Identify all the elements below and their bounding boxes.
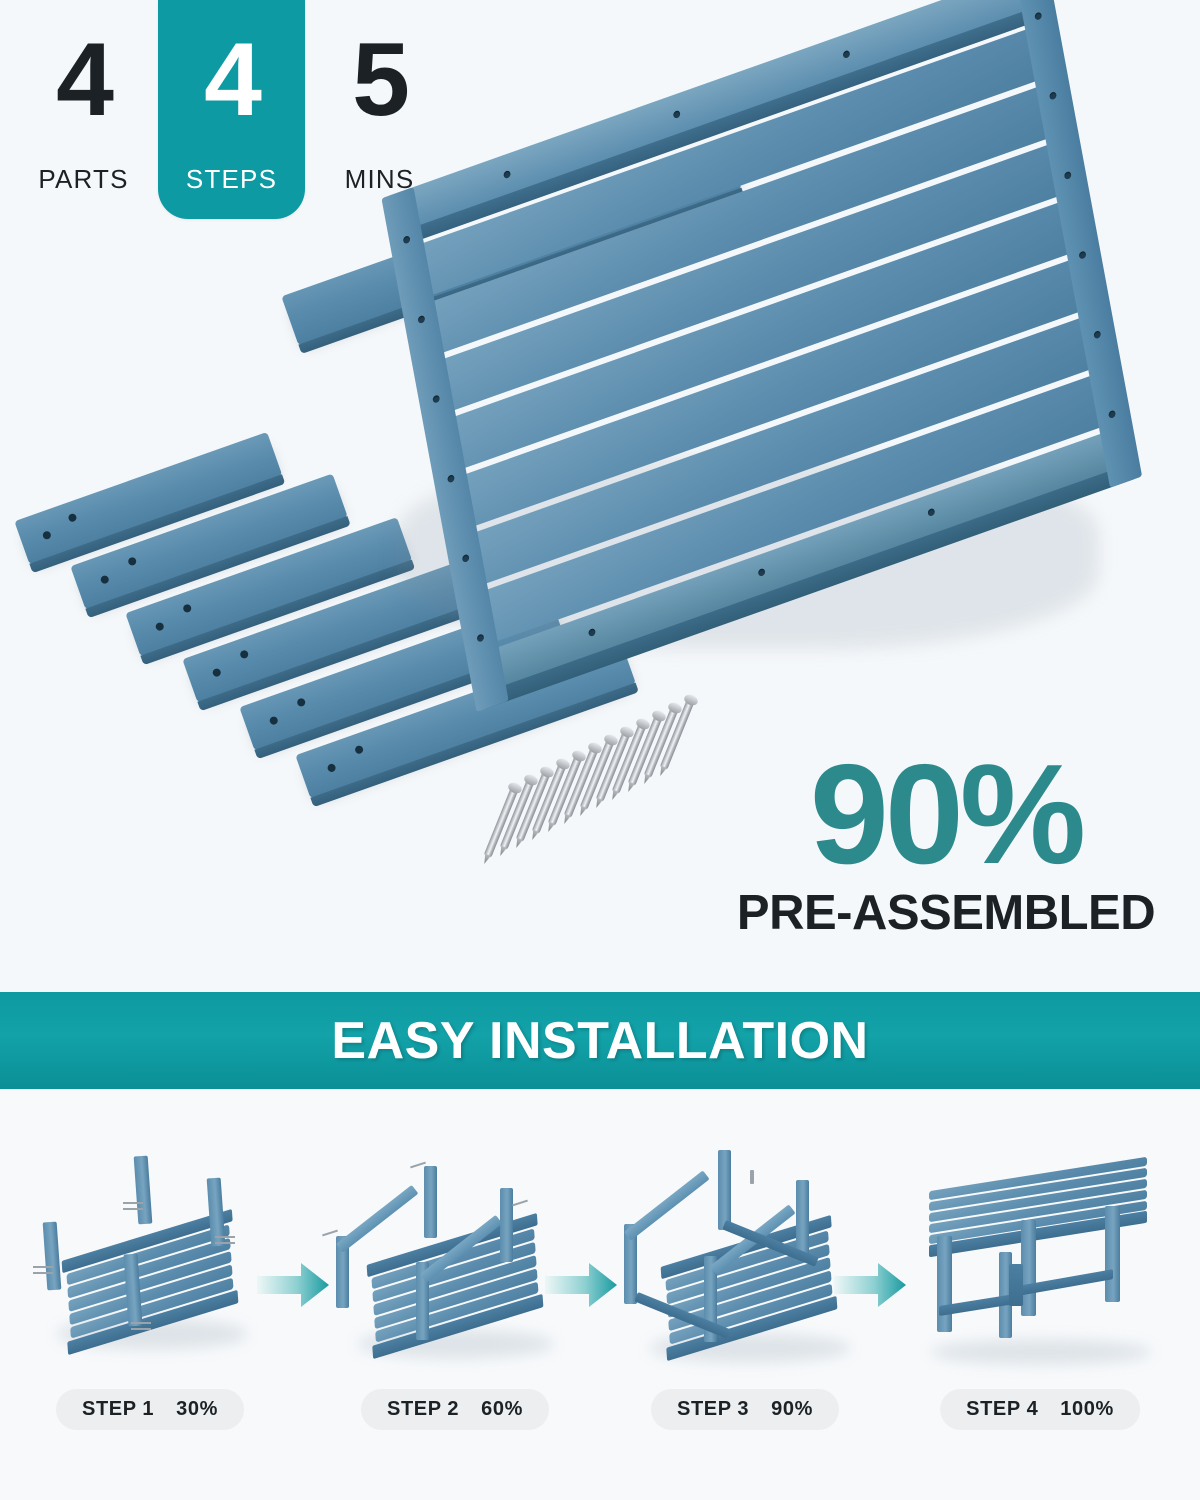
installation-steps-section: STEP 1 30% (0, 1089, 1200, 1500)
screws-group (505, 700, 705, 865)
stat-mins: 5 MINS (306, 0, 453, 230)
step-4-badge: STEP 4 100% (940, 1389, 1140, 1430)
stat-steps-number: 4 (204, 28, 259, 132)
table-leg (424, 1166, 437, 1238)
install-step-1: STEP 1 30% (5, 1089, 295, 1500)
pre-assembled-label: PRE-ASSEMBLED (726, 885, 1166, 941)
stat-steps: 4 STEPS (158, 0, 305, 219)
pre-assembled-percent: 90% (726, 748, 1166, 881)
step-3-name: STEP 3 (677, 1398, 749, 1421)
step-2-name: STEP 2 (387, 1398, 459, 1421)
side-rail (336, 1185, 418, 1253)
stat-steps-label: STEPS (186, 164, 277, 195)
step-2-percent: 60% (481, 1398, 523, 1421)
table-leg (937, 1236, 952, 1332)
step-4-illustration (895, 1144, 1185, 1379)
table-leg (796, 1180, 809, 1260)
stat-parts: 4 PARTS (10, 0, 157, 230)
table-leg (43, 1222, 62, 1291)
stat-mins-number: 5 (352, 28, 407, 132)
step-1-name: STEP 1 (82, 1398, 154, 1421)
table-leg (718, 1150, 731, 1230)
table-leg (1021, 1220, 1036, 1316)
table-leg (1105, 1206, 1120, 1302)
tabletop-frame-assembly (368, 48, 1188, 708)
stat-parts-label: PARTS (38, 164, 128, 195)
step-1-percent: 30% (176, 1398, 218, 1421)
hero-section: 4 PARTS 4 STEPS 5 MINS 90% PRE-ASSEMBLED (0, 0, 1200, 992)
step-1-illustration (5, 1144, 295, 1379)
install-step-4: STEP 4 100% (895, 1089, 1185, 1500)
table-leg (134, 1156, 153, 1225)
pre-assembled-callout: 90% PRE-ASSEMBLED (726, 748, 1166, 941)
stat-parts-number: 4 (56, 28, 111, 132)
side-rail (624, 1170, 710, 1240)
step-1-badge: STEP 1 30% (56, 1389, 244, 1430)
product-infographic: 4 PARTS 4 STEPS 5 MINS 90% PRE-ASSEMBLED… (0, 0, 1200, 1500)
step-3-percent: 90% (771, 1398, 813, 1421)
step-2-badge: STEP 2 60% (361, 1389, 549, 1430)
stat-mins-label: MINS (345, 164, 415, 195)
step-4-percent: 100% (1060, 1398, 1114, 1421)
step-4-name: STEP 4 (966, 1398, 1038, 1421)
step-3-badge: STEP 3 90% (651, 1389, 839, 1430)
banner-title: EASY INSTALLATION (331, 1011, 868, 1071)
easy-installation-banner: EASY INSTALLATION (0, 992, 1200, 1089)
table-leg (500, 1188, 513, 1262)
stats-strip: 4 PARTS 4 STEPS 5 MINS (0, 0, 460, 230)
lower-shelf-stretcher (1009, 1264, 1023, 1306)
